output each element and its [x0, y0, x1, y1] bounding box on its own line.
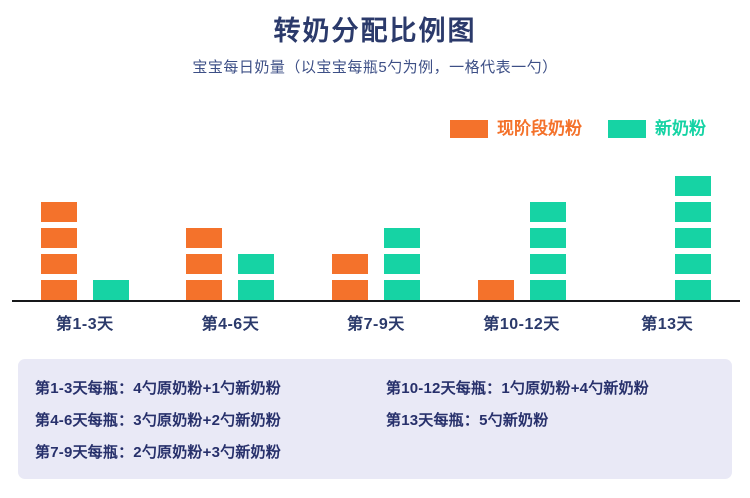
- bar-segment: [186, 280, 222, 300]
- bar-stack-new[interactable]: [238, 254, 274, 300]
- note-line: 第7-9天每瓶：2勺原奶粉+3勺新奶粉: [35, 437, 378, 469]
- bar-stack-new[interactable]: [675, 176, 711, 300]
- x-axis-tick-label: 第4-6天: [158, 310, 304, 334]
- legend-item-new: 新奶粉: [608, 120, 706, 138]
- bar-segment: [675, 228, 711, 248]
- x-axis-tick-label: 第13天: [594, 310, 740, 334]
- legend-item-current: 现阶段奶粉: [450, 120, 582, 138]
- note-line: 第13天每瓶：5勺新奶粉: [386, 405, 732, 437]
- note-line: 第4-6天每瓶：3勺原奶粉+2勺新奶粉: [35, 405, 378, 437]
- bar-stack-new[interactable]: [93, 280, 129, 300]
- bar-segment: [41, 202, 77, 222]
- bar-stack-new[interactable]: [530, 202, 566, 300]
- bar-segment: [675, 254, 711, 274]
- note-line: 第1-3天每瓶：4勺原奶粉+1勺新奶粉: [35, 373, 378, 405]
- bar-segment: [93, 280, 129, 300]
- bar-segment: [238, 280, 274, 300]
- bar-segment: [675, 280, 711, 300]
- note-line: 第10-12天每瓶：1勺原奶粉+4勺新奶粉: [386, 373, 732, 405]
- legend-label-new: 新奶粉: [655, 120, 706, 138]
- bar-segment: [41, 228, 77, 248]
- x-axis-tick-label: 第10-12天: [449, 310, 595, 334]
- legend-swatch-current-icon: [450, 120, 488, 138]
- x-axis-labels: 第1-3天第4-6天第7-9天第10-12天第13天: [12, 310, 740, 334]
- bar-group: [594, 155, 740, 300]
- bar-segment: [675, 202, 711, 222]
- notes-column-right: 第10-12天每瓶：1勺原奶粉+4勺新奶粉第13天每瓶：5勺新奶粉: [378, 373, 732, 479]
- bar-segment: [332, 254, 368, 274]
- bar-stack-new[interactable]: [384, 228, 420, 300]
- bar-stack-current[interactable]: [186, 228, 222, 300]
- bar-stack-current[interactable]: [41, 202, 77, 300]
- bar-segment: [675, 176, 711, 196]
- page-title: 转奶分配比例图: [0, 14, 750, 48]
- bar-groups: [12, 155, 740, 300]
- chart-plot-area: [0, 155, 750, 305]
- bar-segment: [530, 202, 566, 222]
- bar-segment: [530, 254, 566, 274]
- bar-segment: [478, 280, 514, 300]
- x-axis-tick-label: 第7-9天: [303, 310, 449, 334]
- bar-group: [12, 155, 158, 300]
- bar-group: [449, 155, 595, 300]
- chart-subtitle: 宝宝每日奶量（以宝宝每瓶5勺为例，一格代表一勺）: [0, 58, 750, 78]
- chart-header: 转奶分配比例图 宝宝每日奶量（以宝宝每瓶5勺为例，一格代表一勺）: [0, 0, 750, 78]
- bar-segment: [384, 280, 420, 300]
- bar-segment: [238, 254, 274, 274]
- bar-segment: [530, 280, 566, 300]
- bar-stack-current[interactable]: [478, 280, 514, 300]
- bar-segment: [41, 254, 77, 274]
- bar-segment: [530, 228, 566, 248]
- x-axis-line: [12, 300, 740, 302]
- bar-stack-current[interactable]: [332, 254, 368, 300]
- notes-column-left: 第1-3天每瓶：4勺原奶粉+1勺新奶粉第4-6天每瓶：3勺原奶粉+2勺新奶粉第7…: [18, 373, 378, 479]
- legend-label-current: 现阶段奶粉: [497, 120, 582, 138]
- bar-segment: [384, 228, 420, 248]
- bar-segment: [186, 228, 222, 248]
- chart-legend: 现阶段奶粉 新奶粉: [450, 120, 706, 138]
- x-axis-tick-label: 第1-3天: [12, 310, 158, 334]
- legend-swatch-new-icon: [608, 120, 646, 138]
- bar-group: [303, 155, 449, 300]
- bar-segment: [332, 280, 368, 300]
- bar-segment: [186, 254, 222, 274]
- bar-segment: [41, 280, 77, 300]
- notes-panel: 第1-3天每瓶：4勺原奶粉+1勺新奶粉第4-6天每瓶：3勺原奶粉+2勺新奶粉第7…: [18, 359, 732, 479]
- bar-group: [158, 155, 304, 300]
- bar-segment: [384, 254, 420, 274]
